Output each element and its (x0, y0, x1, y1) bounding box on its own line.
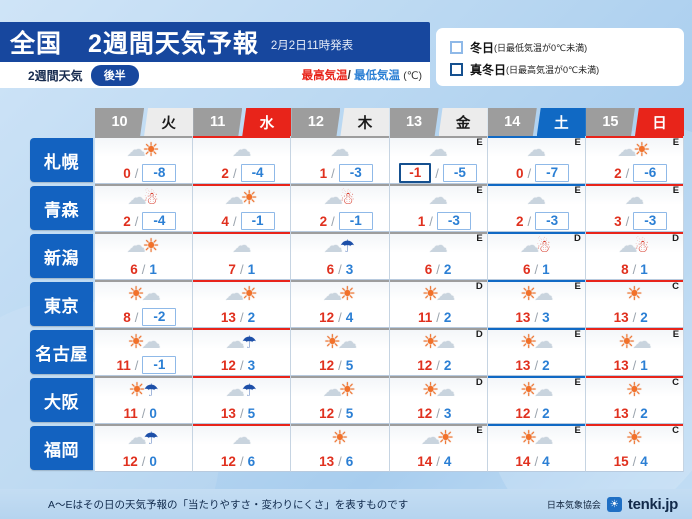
forecast-cell[interactable]: ☁☂13/5 (193, 376, 291, 424)
city-chip-福岡[interactable]: 福岡 (30, 426, 93, 470)
forecast-cell[interactable]: ☁☀0/-8 (95, 136, 193, 184)
date-header-10: 10火 (95, 108, 193, 136)
temperature-pair: 15/4 (586, 451, 683, 471)
temperature-separator: / (427, 214, 435, 229)
reliability-letter: E (673, 329, 679, 340)
min-temperature: 3 (248, 358, 268, 373)
forecast-cell[interactable]: ☁☂6/3 (291, 232, 389, 280)
sun-icon: ☀ (339, 285, 356, 304)
forecast-cell[interactable]: ☁E6/2 (390, 232, 488, 280)
weather-icon-area: ☁E (390, 184, 487, 211)
weather-icon-group: ☀☁ (129, 285, 159, 304)
weather-icon-group: ☁ (431, 189, 446, 208)
temperature-pair: 13/2 (586, 307, 683, 327)
city-cell: 大阪 (0, 376, 95, 424)
min-temperature: 1 (542, 262, 562, 277)
weather-icon-group: ☀☁ (521, 333, 551, 352)
min-temperature: -1 (339, 212, 373, 230)
weather-icon-group: ☁ (431, 141, 446, 160)
max-temperature: 14 (510, 454, 530, 469)
forecast-cell[interactable]: ☁E1/-3 (390, 184, 488, 232)
city-name: 福岡 (44, 436, 79, 461)
temperature-separator: / (532, 310, 540, 325)
temperature-separator: / (631, 406, 639, 421)
weather-icon-area: ☁☀ (95, 232, 192, 259)
max-temperature: 11 (118, 406, 138, 421)
subtitle-label: 2週間天気 (28, 67, 83, 84)
forecast-cell[interactable]: ☁2/-4 (193, 136, 291, 184)
sun-icon: ☀ (339, 381, 356, 400)
sun-icon: ☀ (626, 381, 643, 400)
max-temperature: 0 (503, 166, 523, 181)
reliability-letter: E (575, 377, 581, 388)
forecast-cell[interactable]: ☀C13/2 (586, 376, 684, 424)
reliability-note: A～Eはその日の天気予報の「当たりやすさ・変わりにくさ」を表すものです (48, 497, 408, 512)
weather-icon-group: ☁ (431, 237, 446, 256)
weather-icon-area: ☀☁ (95, 328, 192, 355)
forecast-cell[interactable]: ☀☂11/0 (95, 376, 193, 424)
cloud-icon: ☁ (534, 285, 553, 304)
temperature-separator: / (434, 454, 442, 469)
weather-icon-area: ☁ (193, 424, 290, 451)
max-temp-legend-label: 最高気温 (302, 70, 348, 82)
weather-icon-area: ☀☁E (488, 280, 585, 307)
weather-icon-group: ☁☀ (423, 429, 453, 448)
min-temperature: 4 (640, 454, 660, 469)
forecast-cell[interactable]: ☁☀E14/4 (390, 424, 488, 472)
temperature-pair: 12/0 (95, 451, 192, 471)
city-name: 札幌 (44, 148, 79, 173)
min-temperature: 4 (346, 310, 366, 325)
min-temperature: 5 (346, 358, 366, 373)
max-temperature: 11 (111, 358, 131, 373)
weather-icon-area: ☁☀ (193, 280, 290, 307)
forecast-cell[interactable]: ☁☀13/2 (193, 280, 291, 328)
min-temperature: 1 (640, 358, 660, 373)
temperature-pair: 13/6 (291, 451, 388, 471)
temperature-separator: / (532, 262, 540, 277)
header-city-spacer (0, 108, 95, 136)
weather-icon-area: ☀C (586, 424, 683, 451)
cloud-icon: ☁ (429, 189, 448, 208)
weather-icon-group: ☁☀ (129, 237, 159, 256)
min-temperature: -1 (241, 212, 275, 230)
date-number: 10 (95, 108, 144, 136)
period-pill-latter-half[interactable]: 後半 (91, 65, 139, 86)
umbrella-rain-icon: ☂ (143, 430, 158, 447)
forecast-cell[interactable]: ☀13/6 (291, 424, 389, 472)
forecast-cell[interactable]: ☀☁E13/2 (488, 328, 586, 376)
forecast-cell[interactable]: ☁1/-3 (291, 136, 389, 184)
weather-icon-area: ☁☂ (291, 232, 388, 259)
reliability-letter: C (672, 377, 679, 388)
reliability-letter: D (476, 281, 483, 292)
reliability-letter: D (672, 233, 679, 244)
reliability-letter: D (574, 233, 581, 244)
reliability-letter: D (476, 329, 483, 340)
temperature-pair: 12/3 (390, 403, 487, 423)
min-temperature: 6 (346, 454, 366, 469)
sun-icon: ☀ (143, 237, 160, 256)
weekday-label: 金 (439, 108, 488, 136)
temperature-separator: / (336, 406, 344, 421)
forecast-cell[interactable]: ☀☁E12/2 (488, 376, 586, 424)
temperature-separator: / (525, 214, 533, 229)
max-temperature: 6 (118, 262, 138, 277)
weather-icon-group: ☁☃ (522, 237, 550, 256)
weather-icon-group: ☀☁ (325, 333, 355, 352)
date-number: 11 (193, 108, 242, 136)
weather-icon-area: ☀☁E (488, 328, 585, 355)
max-temperature: 2 (503, 214, 523, 229)
cloud-icon: ☁ (142, 333, 161, 352)
forecast-cell[interactable]: ☀☁E14/4 (488, 424, 586, 472)
sun-icon: ☀ (437, 429, 454, 448)
temperature-pair: 13/2 (488, 355, 585, 375)
weather-icon-group: ☀☁ (521, 429, 551, 448)
cloud-icon: ☁ (142, 285, 161, 304)
weather-icon-area: ☁☀ (291, 280, 388, 307)
min-temperature: -8 (142, 164, 176, 182)
temperature-separator: / (532, 406, 540, 421)
city-cell: 福岡 (0, 424, 95, 472)
forecast-cell[interactable]: ☁☃D8/1 (586, 232, 684, 280)
weather-icon-area: ☁☂ (193, 376, 290, 403)
forecast-cell[interactable]: ☀☁11/-1 (95, 328, 193, 376)
temperature-pair: 2/-3 (488, 211, 585, 231)
forecast-cell[interactable]: ☁☂12/3 (193, 328, 291, 376)
temperature-pair: 11/-1 (95, 355, 192, 375)
fuyubi-label: 冬日 (470, 39, 494, 56)
forecast-cell[interactable]: ☁E-1/-5 (390, 136, 488, 184)
temperature-separator: / (434, 358, 442, 373)
date-number: 14 (488, 108, 537, 136)
winter-day-legend-box: 冬日 (日最低気温が0℃未満) 真冬日 (日最高気温が0℃未満) (436, 28, 684, 86)
weather-icon-group: ☀ (627, 381, 642, 400)
forecast-cell[interactable]: ☀C15/4 (586, 424, 684, 472)
forecast-cell[interactable]: ☁☀12/5 (291, 376, 389, 424)
reliability-letter: E (673, 137, 679, 148)
cloud-icon: ☁ (632, 333, 651, 352)
temperature-pair: 2/-1 (291, 211, 388, 231)
weekday-label: 土 (537, 108, 586, 136)
forecast-cell[interactable]: ☀☁D12/2 (390, 328, 488, 376)
weather-icon-group: ☁☀ (325, 285, 355, 304)
forecast-cell[interactable]: ☁E3/-3 (586, 184, 684, 232)
min-temperature: 2 (248, 310, 268, 325)
temperature-separator: / (336, 358, 344, 373)
temperature-pair: 11/2 (390, 307, 487, 327)
forecast-cell[interactable]: ☀☁E13/1 (586, 328, 684, 376)
max-temperature: 13 (216, 310, 236, 325)
weather-icon-group: ☁☃ (129, 189, 157, 208)
city-name: 名古屋 (35, 340, 88, 365)
weather-icon-group: ☀☁ (423, 381, 453, 400)
forecast-cell[interactable]: ☁☂12/0 (95, 424, 193, 472)
weather-icon-area: ☁☀ (95, 136, 192, 163)
weather-icon-area: ☁☃ (291, 184, 388, 211)
weather-icon-group: ☁ (234, 141, 249, 160)
forecast-cell[interactable]: ☁☃2/-4 (95, 184, 193, 232)
max-temperature: 15 (609, 454, 629, 469)
date-header-12: 12木 (291, 108, 389, 136)
temperature-pair: 8/1 (586, 259, 683, 279)
city-cell: 札幌 (0, 136, 95, 184)
fuyubi-swatch-icon (450, 41, 463, 54)
forecast-cell[interactable]: ☀☁12/5 (291, 328, 389, 376)
brand-name: tenki.jp (628, 496, 678, 513)
umbrella-rain-icon: ☂ (242, 334, 257, 351)
reliability-letter: E (673, 185, 679, 196)
weather-icon-area: ☁☃ (95, 184, 192, 211)
cloud-icon: ☁ (527, 189, 546, 208)
cloud-icon: ☁ (232, 429, 251, 448)
city-chip-新潟[interactable]: 新潟 (30, 234, 93, 278)
weather-icon-area: ☁☀E (390, 424, 487, 451)
forecast-cell[interactable]: ☁☀4/-1 (193, 184, 291, 232)
min-temp-legend-label: 最低気温 (354, 70, 400, 82)
weather-icon-area: ☁E (390, 136, 487, 163)
sun-icon: ☀ (633, 141, 650, 160)
max-temperature: 12 (412, 358, 432, 373)
cloud-icon: ☁ (625, 189, 644, 208)
cloud-icon: ☁ (429, 237, 448, 256)
weather-icon-group: ☁☂ (228, 333, 256, 352)
city-cell: 名古屋 (0, 328, 95, 376)
weather-icon-group: ☁☀ (227, 189, 257, 208)
snow-icon: ☃ (536, 238, 551, 255)
min-temperature: 5 (346, 406, 366, 421)
forecast-row: 東京☀☁8/-2☁☀13/2☁☀12/4☀☁D11/2☀☁E13/3☀C13/2 (0, 280, 684, 328)
min-temperature: 3 (542, 310, 562, 325)
weekday-label: 木 (340, 108, 389, 136)
min-temperature: -3 (437, 212, 471, 230)
min-temperature: 6 (248, 454, 268, 469)
temperature-pair: 12/5 (291, 403, 388, 423)
weather-icon-group: ☀☂ (129, 381, 157, 400)
max-temperature: 3 (602, 214, 622, 229)
temperature-separator: / (238, 310, 246, 325)
date-header-15: 15日 (586, 108, 684, 136)
mafuyubi-label: 真冬日 (470, 61, 506, 78)
cloud-icon: ☁ (534, 333, 553, 352)
temperature-pair: 12/4 (291, 307, 388, 327)
cloud-icon: ☁ (429, 141, 448, 160)
temperature-separator: / (624, 214, 632, 229)
weather-icon-group: ☀☁ (423, 333, 453, 352)
mafuyubi-swatch-icon (450, 63, 463, 76)
max-temperature: -1 (399, 163, 431, 183)
min-temperature: 2 (640, 406, 660, 421)
legend-item-mafuyubi: 真冬日 (日最高気温が0℃未満) (450, 58, 674, 80)
temperature-pair: 0/-7 (488, 163, 585, 183)
min-temperature: 2 (542, 358, 562, 373)
date-header-row: 10火11水12木13金14土15日 (0, 108, 684, 136)
min-temperature: -4 (142, 212, 176, 230)
temperature-separator: / (329, 166, 337, 181)
weather-icon-group: ☀☁ (129, 333, 159, 352)
cloud-icon: ☁ (436, 381, 455, 400)
temp-unit-label: (℃) (403, 70, 422, 82)
cloud-icon: ☁ (527, 141, 546, 160)
weather-icon-area: ☀☁ (291, 328, 388, 355)
weather-icon-group: ☀ (627, 285, 642, 304)
reliability-letter: E (476, 185, 482, 196)
max-temperature: 6 (412, 262, 432, 277)
max-temperature: 13 (510, 358, 530, 373)
weather-icon-group: ☀ (627, 429, 642, 448)
footer-branding: 日本気象協会 ☀ tenki.jp (547, 496, 678, 513)
date-header-11: 11水 (193, 108, 291, 136)
weather-icon-area: ☀☁ (95, 280, 192, 307)
max-temperature: 1 (307, 166, 327, 181)
forecast-cell[interactable]: ☀☁D12/3 (390, 376, 488, 424)
max-temperature: 13 (609, 358, 629, 373)
date-number: 15 (586, 108, 635, 136)
forecast-cell[interactable]: ☀☁8/-2 (95, 280, 193, 328)
forecast-cell[interactable]: ☀C13/2 (586, 280, 684, 328)
temperature-separator: / (434, 406, 442, 421)
date-header-14: 14土 (488, 108, 586, 136)
forecast-cell[interactable]: ☁☃2/-1 (291, 184, 389, 232)
cloud-icon: ☁ (534, 381, 553, 400)
max-temperature: 13 (216, 406, 236, 421)
weather-icon-area: ☀☁D (390, 328, 487, 355)
snow-icon: ☃ (340, 190, 355, 207)
max-temperature: 8 (111, 310, 131, 325)
weather-icon-area: ☀C (586, 376, 683, 403)
temperature-pair: 12/3 (193, 355, 290, 375)
date-header-13: 13金 (390, 108, 488, 136)
temperature-separator: / (631, 262, 639, 277)
weather-icon-group: ☁☂ (326, 237, 354, 256)
reliability-letter: E (476, 233, 482, 244)
max-temperature: 6 (510, 262, 530, 277)
city-chip-青森[interactable]: 青森 (30, 186, 93, 230)
max-temperature: 12 (314, 358, 334, 373)
max-temperature: 13 (314, 454, 334, 469)
min-temperature: 5 (248, 406, 268, 421)
max-temperature: 14 (412, 454, 432, 469)
temperature-separator: / (140, 262, 148, 277)
temperature-legend: 最高気温/ 最低気温 (℃) (302, 67, 422, 83)
min-temperature: 2 (444, 310, 464, 325)
forecast-cell[interactable]: ☁12/6 (193, 424, 291, 472)
weather-icon-group: ☀ (332, 429, 347, 448)
temperature-pair: 13/5 (193, 403, 290, 423)
forecast-cell[interactable]: ☁☀E2/-6 (586, 136, 684, 184)
organization-label: 日本気象協会 (547, 498, 601, 511)
weather-icon-group: ☁☀ (129, 141, 159, 160)
cloud-icon: ☁ (436, 333, 455, 352)
min-temperature: 1 (248, 262, 268, 277)
weather-icon-group: ☀☁ (423, 285, 453, 304)
reliability-letter: C (672, 425, 679, 436)
forecast-cell[interactable]: ☁E2/-3 (488, 184, 586, 232)
temperature-separator: / (238, 358, 246, 373)
reliability-letter: C (672, 281, 679, 292)
weekday-label: 水 (242, 108, 291, 136)
forecast-row: 大阪☀☂11/0☁☂13/5☁☀12/5☀☁D12/3☀☁E12/2☀C13/2 (0, 376, 684, 424)
forecast-cell[interactable]: ☁7/1 (193, 232, 291, 280)
max-temperature: 7 (216, 262, 236, 277)
max-temperature: 1 (405, 214, 425, 229)
city-chip-名古屋[interactable]: 名古屋 (30, 330, 93, 374)
temperature-pair: 6/2 (390, 259, 487, 279)
weather-icon-area: ☀C (586, 280, 683, 307)
max-temperature: 12 (216, 358, 236, 373)
temperature-pair: 11/0 (95, 403, 192, 423)
min-temperature: 1 (149, 262, 169, 277)
weather-icon-area: ☀☂ (95, 376, 192, 403)
forecast-cell[interactable]: ☁☀12/4 (291, 280, 389, 328)
temperature-pair: 14/4 (488, 451, 585, 471)
min-temperature: -6 (633, 164, 667, 182)
city-chip-大阪[interactable]: 大阪 (30, 378, 93, 422)
city-name: 東京 (44, 292, 79, 317)
city-chip-東京[interactable]: 東京 (30, 282, 93, 326)
weather-icon-area: ☁☀E (586, 136, 683, 163)
temperature-separator: / (336, 262, 344, 277)
forecast-cell[interactable]: ☁E0/-7 (488, 136, 586, 184)
max-temperature: 4 (209, 214, 229, 229)
tenki-logo-icon: ☀ (607, 497, 622, 512)
min-temperature: 0 (149, 406, 169, 421)
umbrella-rain-icon: ☂ (340, 238, 355, 255)
temperature-separator: / (525, 166, 533, 181)
forecast-cell[interactable]: ☀☁E13/3 (488, 280, 586, 328)
min-temperature: 4 (542, 454, 562, 469)
mafuyubi-description: (日最高気温が0℃未満) (506, 63, 599, 76)
cloud-icon: ☁ (338, 333, 357, 352)
weather-icon-area: ☀☁E (586, 328, 683, 355)
weather-icon-area: ☁ (193, 136, 290, 163)
city-chip-札幌[interactable]: 札幌 (30, 138, 93, 182)
max-temperature: 2 (111, 214, 131, 229)
temperature-pair: 1/-3 (390, 211, 487, 231)
forecast-table: 10火11水12木13金14土15日 札幌☁☀0/-8☁2/-4☁1/-3☁E-… (0, 108, 684, 472)
forecast-cell[interactable]: ☁☀6/1 (95, 232, 193, 280)
weather-icon-area: ☁☀ (193, 184, 290, 211)
weather-icon-group: ☁☀ (325, 381, 355, 400)
temperature-separator: / (133, 310, 141, 325)
max-temperature: 13 (609, 310, 629, 325)
temperature-separator: / (631, 310, 639, 325)
city-name: 大阪 (44, 388, 79, 413)
weather-icon-area: ☁☂ (95, 424, 192, 451)
temperature-separator: / (238, 454, 246, 469)
min-temperature: 2 (542, 406, 562, 421)
page-title: 全国 2週間天気予報 (10, 24, 259, 60)
weather-icon-area: ☁E (586, 184, 683, 211)
cloud-icon: ☁ (534, 429, 553, 448)
temperature-separator: / (329, 214, 337, 229)
min-temperature: 3 (444, 406, 464, 421)
forecast-cell[interactable]: ☁☃D6/1 (488, 232, 586, 280)
cloud-icon: ☁ (232, 141, 251, 160)
forecast-cell[interactable]: ☀☁D11/2 (390, 280, 488, 328)
temperature-pair: 6/1 (95, 259, 192, 279)
temp-legend-separator: / (348, 70, 351, 82)
forecast-row: 名古屋☀☁11/-1☁☂12/3☀☁12/5☀☁D12/2☀☁E13/2☀☁E1… (0, 328, 684, 376)
temperature-separator: / (238, 406, 246, 421)
temperature-pair: 4/-1 (193, 211, 290, 231)
min-temperature: 0 (149, 454, 169, 469)
legend-item-fuyubi: 冬日 (日最低気温が0℃未満) (450, 36, 674, 58)
city-cell: 青森 (0, 184, 95, 232)
weather-icon-area: ☁☀ (291, 376, 388, 403)
temperature-pair: 1/-3 (291, 163, 388, 183)
